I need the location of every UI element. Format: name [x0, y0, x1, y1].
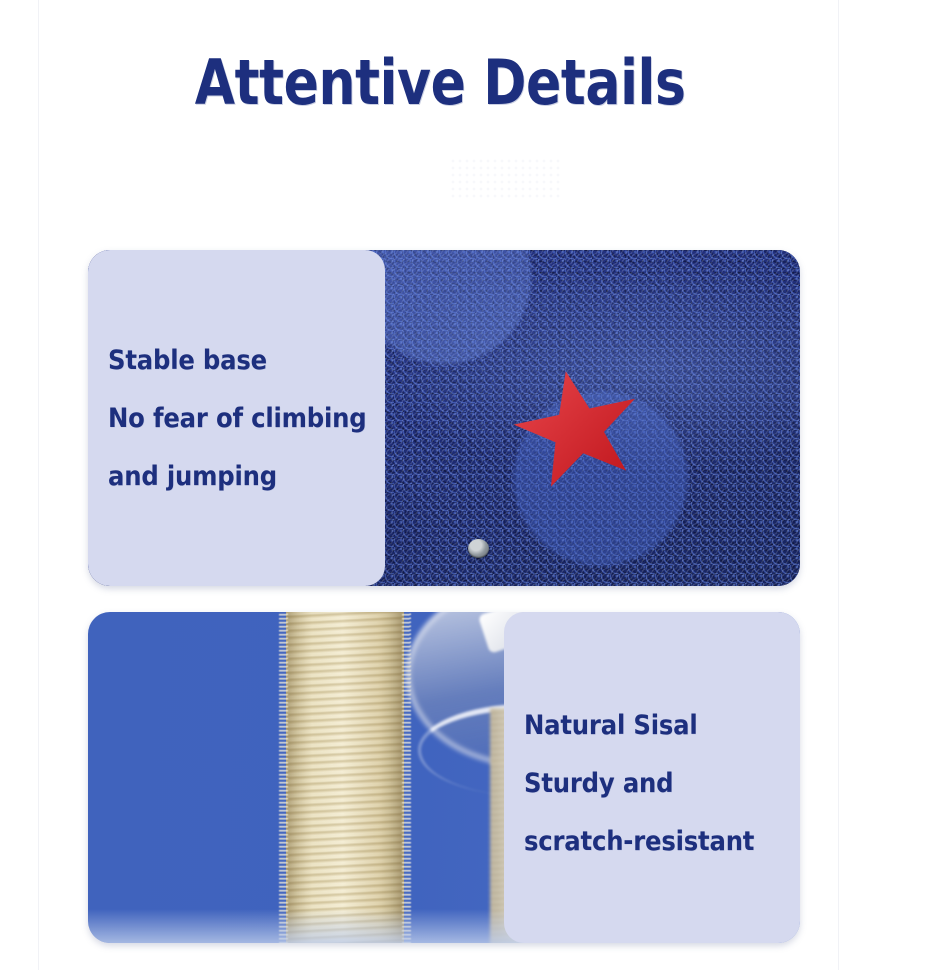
caption-line-3: and jumping [108, 448, 366, 506]
watermark-artifact [450, 158, 560, 198]
caption-line-1: Stable base [108, 332, 366, 390]
caption-text-natural-sisal: Natural Sisal Sturdy and scratch-resista… [524, 697, 780, 871]
page-title: Attentive Details [0, 52, 880, 114]
caption-text-stable-base: Stable base No fear of climbing and jump… [108, 332, 395, 506]
screw-head-icon [468, 539, 489, 558]
caption-line-2: No fear of climbing [108, 390, 366, 448]
caption-line-3: scratch-resistant [524, 813, 754, 871]
page-title-text: Attentive Details [195, 52, 686, 114]
content-guide-left [38, 0, 39, 970]
caption-line-2: Sturdy and [524, 755, 754, 813]
sisal-fiber-edge-right [402, 612, 411, 943]
sisal-fiber-edge-left [279, 612, 288, 943]
content-guide-right [838, 0, 839, 970]
foreground-sisal-post [286, 612, 404, 943]
product-detail-page: Attentive Details Stable base No fear of… [0, 0, 943, 970]
caption-line-1: Natural Sisal [524, 697, 754, 755]
